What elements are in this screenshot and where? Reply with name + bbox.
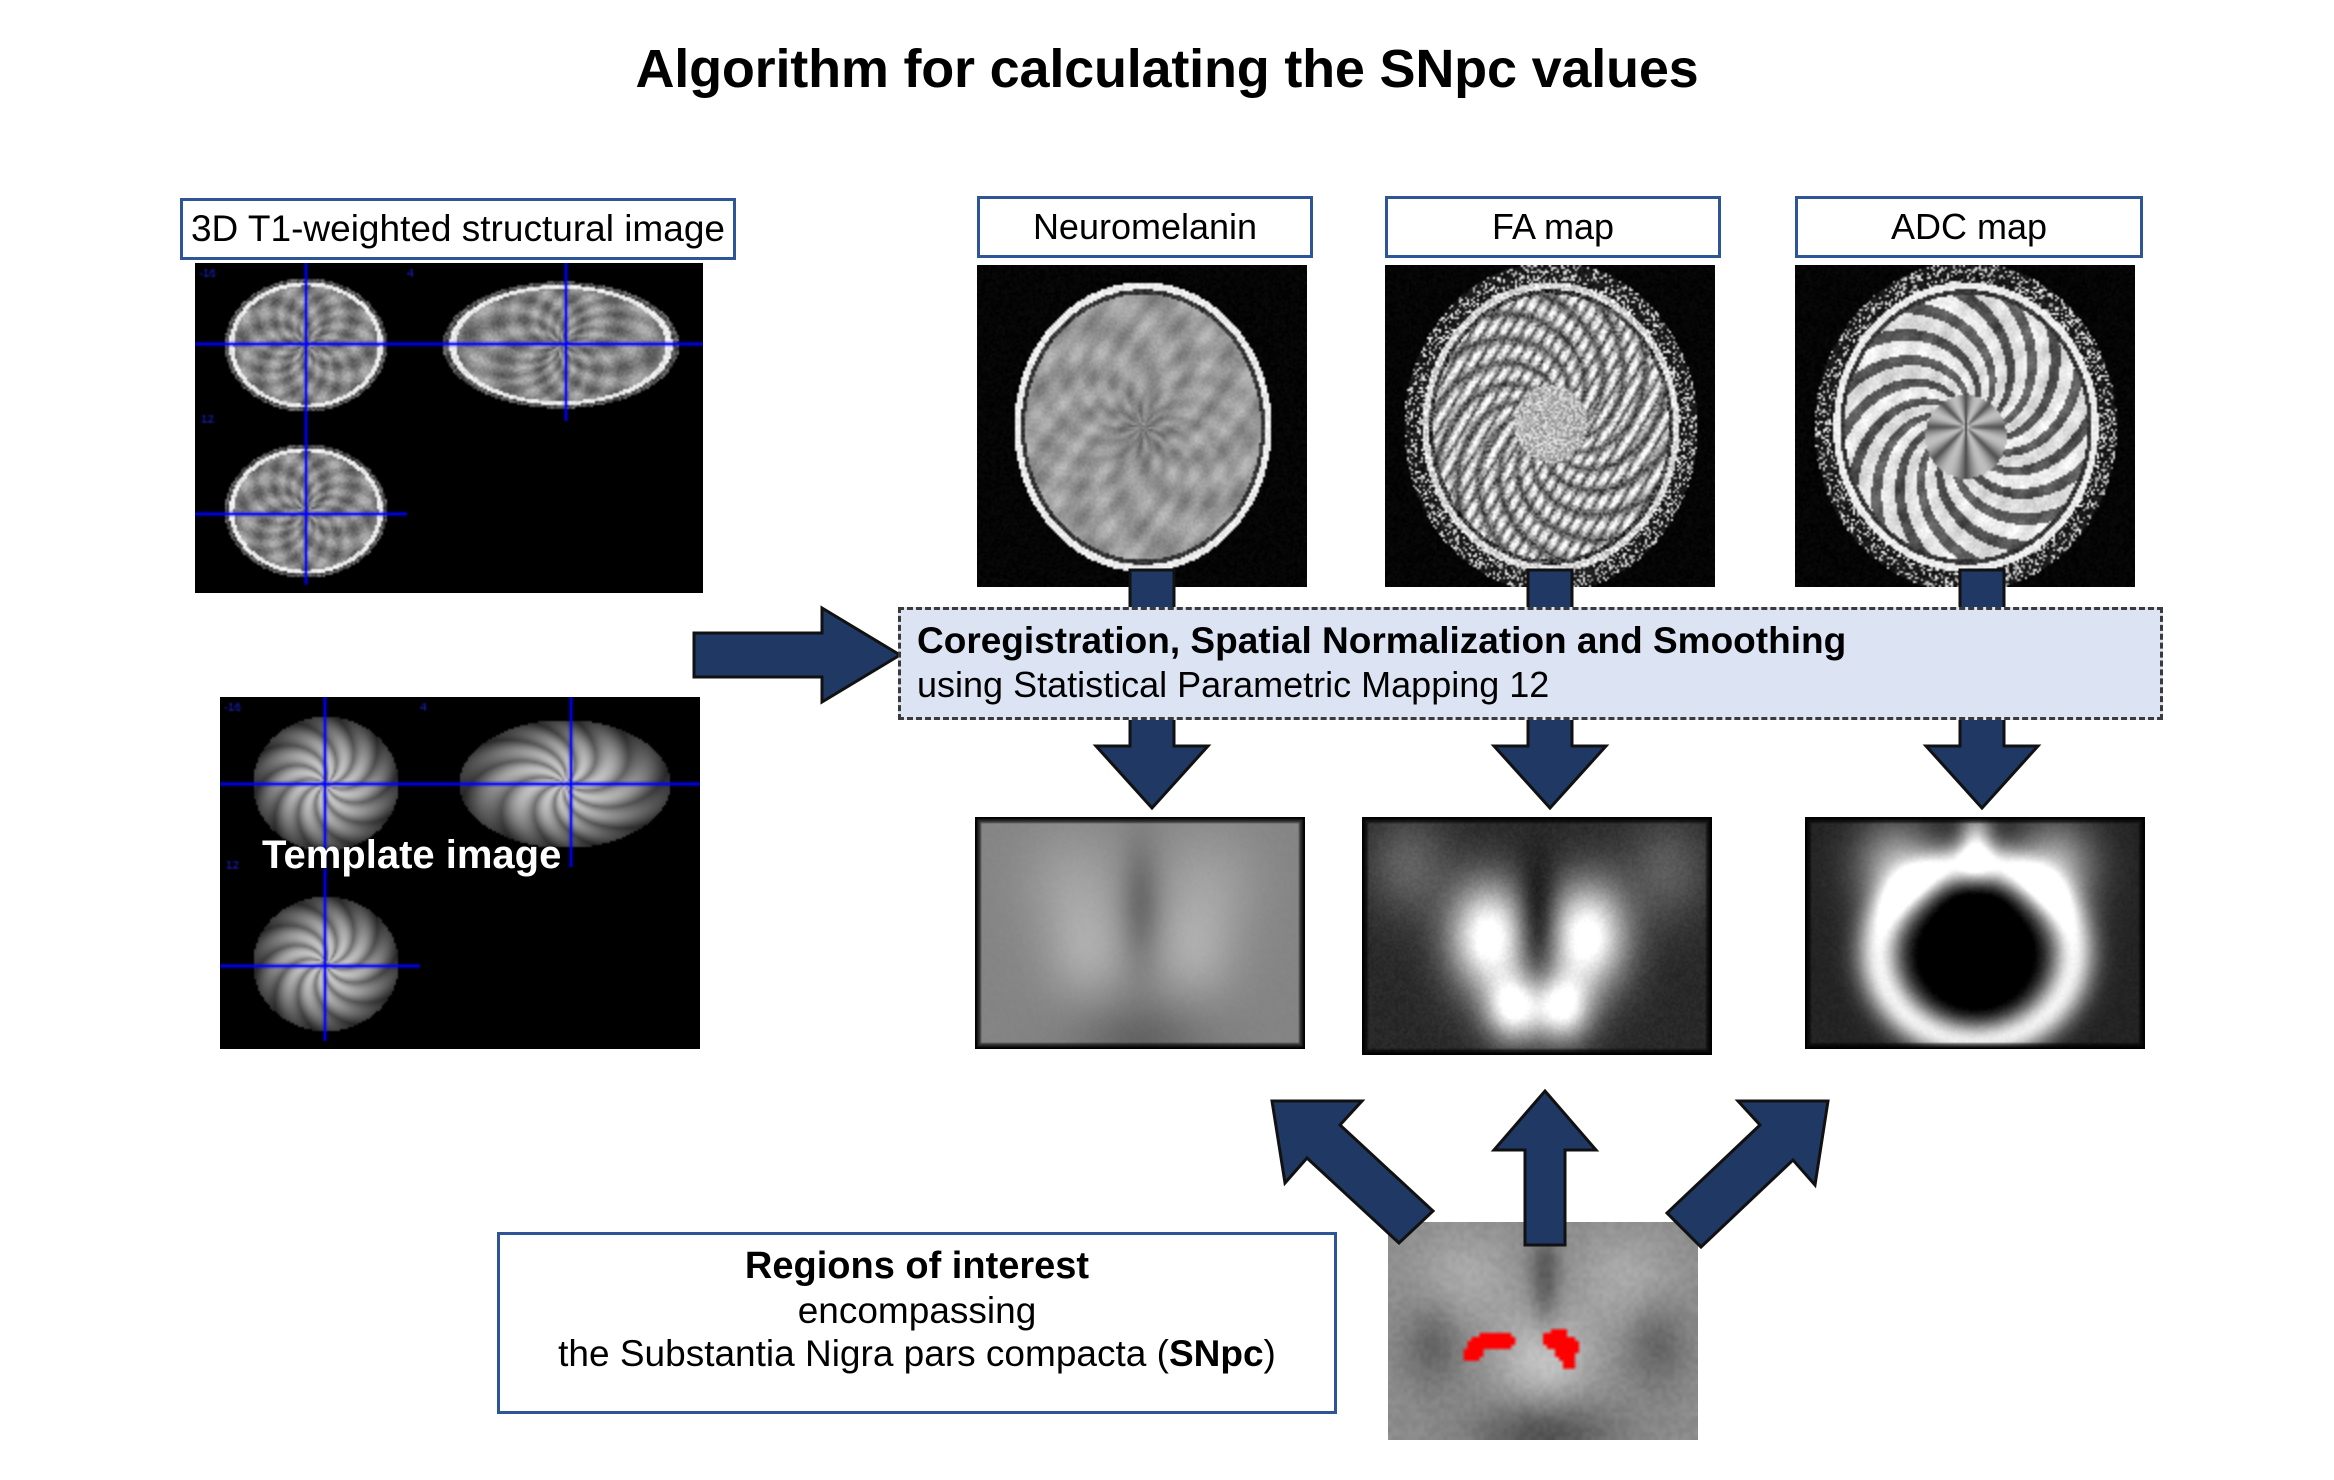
arrow-up-right-icon — [1665, 1095, 1835, 1250]
roi-line-3-snpc: SNpc — [1169, 1333, 1264, 1374]
label-text-t1: 3D T1-weighted structural image — [191, 209, 725, 250]
label-text-fa: FA map — [1492, 207, 1614, 247]
coregistration-line-2: using Statistical Parametric Mapping 12 — [917, 663, 2144, 707]
roi-line-3-prefix: the Substantia Nigra pars compacta ( — [558, 1333, 1169, 1374]
label-text-neuromelanin: Neuromelanin — [1033, 207, 1257, 247]
coregistration-banner: Coregistration, Spatial Normalization an… — [898, 607, 2163, 720]
image-t1-orthogonal-views — [195, 263, 703, 593]
roi-line-3: the Substantia Nigra pars compacta (SNpc… — [500, 1332, 1334, 1376]
image-neuromelanin-axial — [977, 265, 1307, 587]
image-fa-axial — [1385, 265, 1715, 587]
coregistration-line-1: Coregistration, Spatial Normalization an… — [917, 618, 2144, 663]
label-text-adc: ADC map — [1891, 207, 2047, 247]
label-box-fa-map: FA map — [1385, 196, 1721, 258]
label-box-neuromelanin: Neuromelanin — [977, 196, 1313, 258]
arrow-up-icon — [1490, 1088, 1600, 1248]
image-snpc-roi-overlay — [1388, 1222, 1698, 1440]
roi-line-2: encompassing — [500, 1289, 1334, 1333]
page-title: Algorithm for calculating the SNpc value… — [0, 38, 2334, 100]
image-template-orthogonal-views — [220, 697, 700, 1049]
label-box-adc-map: ADC map — [1795, 196, 2143, 258]
image-adc-axial — [1795, 265, 2135, 587]
arrow-up-left-icon — [1265, 1095, 1435, 1245]
image-normalized-adc-midbrain — [1805, 817, 2145, 1049]
image-normalized-fa-midbrain — [1362, 817, 1712, 1055]
label-box-t1-weighted: 3D T1-weighted structural image — [180, 198, 736, 260]
image-normalized-neuromelanin-midbrain — [975, 817, 1305, 1049]
diagram-canvas: Algorithm for calculating the SNpc value… — [0, 0, 2334, 1480]
roi-line-3-suffix: ) — [1264, 1333, 1276, 1374]
regions-of-interest-box: Regions of interest encompassing the Sub… — [497, 1232, 1337, 1414]
arrow-right-icon — [692, 605, 902, 705]
roi-line-1: Regions of interest — [500, 1244, 1334, 1289]
